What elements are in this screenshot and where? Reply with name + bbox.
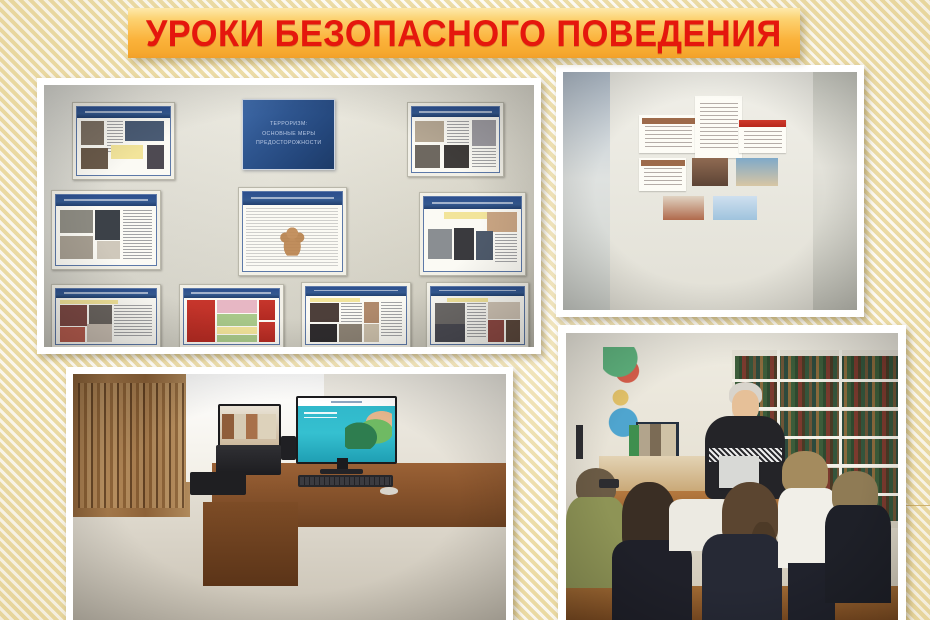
green-stand: [629, 425, 639, 459]
board-poster-3: [407, 102, 505, 177]
photo-computer-presentation: [66, 367, 513, 620]
board-poster-title-line-2: ОСНОВНЫЕ МЕРЫ: [262, 130, 315, 140]
photo-two-girls-image: [563, 72, 857, 310]
page-title: УРОКИ БЕЗОПАСНОГО ПОВЕДЕНИЯ: [146, 15, 782, 52]
tabletop-display: [636, 422, 679, 459]
desk-side: [203, 502, 298, 586]
secondary-monitor: [218, 404, 280, 450]
photo-two-girls-at-stand: [556, 65, 864, 317]
library-shelf: [73, 374, 190, 517]
board-poster-9: [301, 282, 411, 348]
photo-notice-board-image: ТЕРРОРИЗМ: ОСНОВНЫЕ МЕРЫ ПРЕДОСТОРОЖНОСТ…: [44, 85, 534, 347]
wall-photo-2: [736, 158, 777, 187]
slide-canvas: УРОКИ БЕЗОПАСНОГО ПОВЕДЕНИЯ: [0, 0, 930, 620]
wall-photo-4: [713, 196, 757, 220]
child-eyeglasses: [599, 479, 619, 488]
background-rule: [902, 505, 930, 506]
board-poster-title-line-3: ПРЕДОСТОРОЖНОСТИ: [256, 139, 321, 149]
wall-sheet-2: [695, 96, 742, 158]
photo-librarian-reading: [558, 325, 906, 620]
board-poster-10: [426, 282, 528, 348]
wall-sheet-1: [639, 115, 698, 153]
dark-rod: [576, 425, 583, 459]
board-poster-emblem: [238, 187, 348, 275]
presentation-slide: [298, 398, 395, 462]
board-poster-title-line-1: ТЕРРОРИЗМ:: [270, 120, 308, 130]
mouse: [380, 487, 397, 494]
photo-computer-presentation-image: [73, 374, 506, 620]
board-poster-1: [72, 102, 174, 180]
main-monitor: [296, 396, 397, 464]
monitor-base: [320, 469, 363, 474]
board-poster-7: [51, 284, 161, 347]
wall-photo-3: [663, 196, 704, 220]
board-poster-4: [51, 190, 161, 271]
board-poster-6: [419, 192, 526, 275]
keyboard: [298, 475, 393, 487]
board-poster-terrorism-title: ТЕРРОРИЗМ: ОСНОВНЫЕ МЕРЫ ПРЕДОСТОРОЖНОСТ…: [242, 99, 335, 169]
wall-sheet-4: [639, 158, 686, 191]
computer-tower: [216, 445, 281, 475]
photo-notice-board: ТЕРРОРИЗМ: ОСНОВНЫЕ МЕРЫ ПРЕДОСТОРОЖНОСТ…: [37, 78, 541, 354]
board-poster-8: [179, 284, 284, 347]
printer: [190, 472, 246, 494]
speaker: [281, 436, 296, 461]
wall-photo-1: [692, 158, 727, 187]
wall-sheet-3: [739, 120, 786, 153]
slide-title-banner: УРОКИ БЕЗОПАСНОГО ПОВЕДЕНИЯ: [128, 8, 800, 58]
photo-librarian-reading-image: [566, 333, 898, 620]
